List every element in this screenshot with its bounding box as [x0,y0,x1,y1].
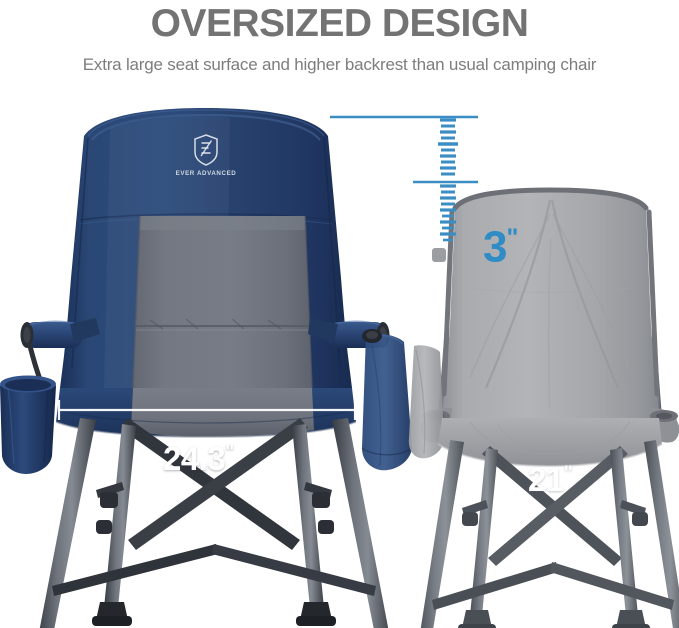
height-difference-value: 3 [483,223,506,272]
ruler-ticks [438,120,458,240]
height-difference-label: 3" [483,216,518,270]
svg-text:EVER ADVANCED: EVER ADVANCED [176,170,237,177]
seat-width-primary-label: 24.3" [163,436,234,475]
height-difference-unit: " [506,224,518,252]
seat-width-primary-unit: " [225,442,234,463]
seat-width-primary-value: 24.3 [163,440,225,477]
blue-chair-side-pocket [362,329,412,470]
gray-chair-illustration [409,190,679,628]
seat-width-compare-value: 21 [528,461,564,498]
page-subtitle: Extra large seat surface and higher back… [0,54,679,76]
blue-chair-mesh-panel [133,216,312,388]
seat-width-compare-label: 21" [528,457,573,496]
header-block: OVERSIZED DESIGN Extra large seat surfac… [0,0,679,88]
infographic-canvas: OVERSIZED DESIGN Extra large seat surfac… [0,0,679,628]
blue-chair-cup-holder [0,376,56,475]
seat-width-compare-unit: " [564,463,573,484]
gray-chair-backrest [432,190,659,418]
product-comparison-illustration: EVER ADVANCED [0,88,679,628]
blue-chair-feet [22,560,406,628]
gray-chair-feet [458,610,650,628]
blue-chair-illustration: EVER ADVANCED [0,108,412,628]
height-difference-ruler [330,117,478,240]
blue-chair-seat [56,388,356,437]
page-title: OVERSIZED DESIGN [0,2,679,46]
